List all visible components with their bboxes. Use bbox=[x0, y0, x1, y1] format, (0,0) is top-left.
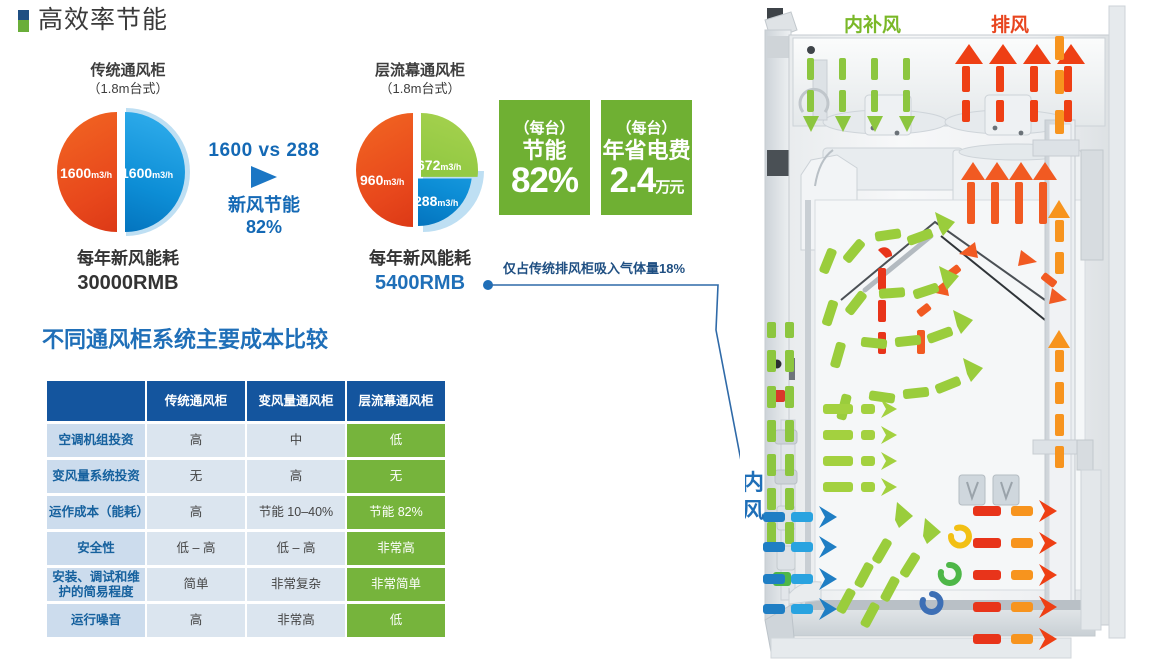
table-header-traditional: 传统通风柜 bbox=[147, 381, 245, 421]
row-label: 运行噪音 bbox=[47, 604, 145, 637]
row-cell: 高 bbox=[147, 424, 245, 457]
row-cell-highlight: 无 bbox=[347, 460, 445, 493]
fume-hood-illustration bbox=[745, 0, 1149, 660]
row-cell: 低 – 高 bbox=[247, 532, 345, 565]
row-cell: 中 bbox=[247, 424, 345, 457]
row-label: 运作成本（能耗） bbox=[47, 496, 145, 529]
row-cell: 非常高 bbox=[247, 604, 345, 637]
row-cell: 低 – 高 bbox=[147, 532, 245, 565]
table-row: 运作成本（能耗） 高 节能 10–40% 节能 82% bbox=[47, 496, 445, 529]
pie-label-traditional-1: 1600m3/h bbox=[60, 165, 112, 183]
cost-comparison-table: 传统通风柜 变风量通风柜 层流幕通风柜 空调机组投资 高 中 低 变风量系统投资… bbox=[45, 378, 447, 640]
badge-energy-saving: （每台） 节能 82% bbox=[499, 100, 590, 215]
table-row: 变风量系统投资 无 高 无 bbox=[47, 460, 445, 493]
callout-leader-line bbox=[480, 270, 740, 500]
pie-caption-traditional: 传统通风柜 （1.8m台式） bbox=[28, 62, 228, 97]
row-cell-highlight: 低 bbox=[347, 604, 445, 637]
table-row: 安全性 低 – 高 低 – 高 非常高 bbox=[47, 532, 445, 565]
row-cell: 非常复杂 bbox=[247, 568, 345, 601]
comparison-center: 1600 vs 288 新风节能 82% bbox=[196, 140, 332, 238]
table-row: 运行噪音 高 非常高 低 bbox=[47, 604, 445, 637]
pie-chart-laminar: 960m3/h 672m3/h 288m3/h bbox=[352, 110, 492, 235]
pie-block-traditional: 传统通风柜 （1.8m台式） bbox=[28, 62, 228, 97]
table-section-title: 不同通风柜系统主要成本比较 bbox=[42, 322, 328, 354]
label-inner-makeup-air: 内补风 bbox=[844, 10, 901, 37]
row-label: 安装、调试和维护的简易程度 bbox=[47, 568, 145, 601]
row-cell-highlight: 节能 82% bbox=[347, 496, 445, 529]
pie-label-laminar-288: 288m3/h bbox=[414, 193, 458, 211]
label-exhaust-air: 排风 bbox=[991, 10, 1029, 37]
table-header-corner bbox=[47, 381, 145, 421]
label-indoor-fresh-air-2: 新风 bbox=[745, 498, 764, 523]
page-title: 高效率节能 bbox=[38, 8, 168, 33]
table-row: 空调机组投资 高 中 低 bbox=[47, 424, 445, 457]
row-cell: 节能 10–40% bbox=[247, 496, 345, 529]
pie-label-laminar-672: 672m3/h bbox=[417, 157, 461, 175]
row-cell-highlight: 非常高 bbox=[347, 532, 445, 565]
row-cell: 简单 bbox=[147, 568, 245, 601]
pie-caption-laminar: 层流幕通风柜 （1.8m台式） bbox=[320, 62, 520, 97]
pie-chart-traditional: 1600m3/h 1600m3/h bbox=[48, 108, 208, 236]
header-bullet-icon bbox=[18, 10, 29, 32]
table-row: 安装、调试和维护的简易程度 简单 非常复杂 非常简单 bbox=[47, 568, 445, 601]
infographic-page: 高效率节能 传统通风柜 （1.8m台式） 1600m3/h 1600m3/h 每… bbox=[0, 0, 1149, 660]
badge-annual-cost-saving: （每台） 年省电费 2.4万元 bbox=[601, 100, 692, 215]
row-cell-highlight: 非常简单 bbox=[347, 568, 445, 601]
pie-block-laminar: 层流幕通风柜 （1.8m台式） bbox=[320, 62, 520, 97]
pie-footer-traditional: 每年新风能耗 30000RMB bbox=[28, 248, 228, 296]
table-header-vav: 变风量通风柜 bbox=[247, 381, 345, 421]
row-label: 空调机组投资 bbox=[47, 424, 145, 457]
right-arrow-icon bbox=[251, 166, 277, 188]
fume-hood-diagram: 内补风 排风 室内 新风 bbox=[745, 0, 1149, 660]
row-cell: 高 bbox=[147, 496, 245, 529]
row-label: 安全性 bbox=[47, 532, 145, 565]
pie-label-laminar-960: 960m3/h bbox=[360, 172, 404, 190]
page-header: 高效率节能 bbox=[18, 8, 168, 33]
pie-label-traditional-2: 1600m3/h bbox=[121, 165, 173, 183]
table-header-row: 传统通风柜 变风量通风柜 层流幕通风柜 bbox=[47, 381, 445, 421]
label-indoor-fresh-air-1: 室内 bbox=[745, 470, 764, 495]
row-cell-highlight: 低 bbox=[347, 424, 445, 457]
row-cell: 无 bbox=[147, 460, 245, 493]
table-header-laminar: 层流幕通风柜 bbox=[347, 381, 445, 421]
badge-big-value: 2.4万元 bbox=[610, 163, 684, 198]
row-cell: 高 bbox=[247, 460, 345, 493]
row-label: 变风量系统投资 bbox=[47, 460, 145, 493]
row-cell: 高 bbox=[147, 604, 245, 637]
